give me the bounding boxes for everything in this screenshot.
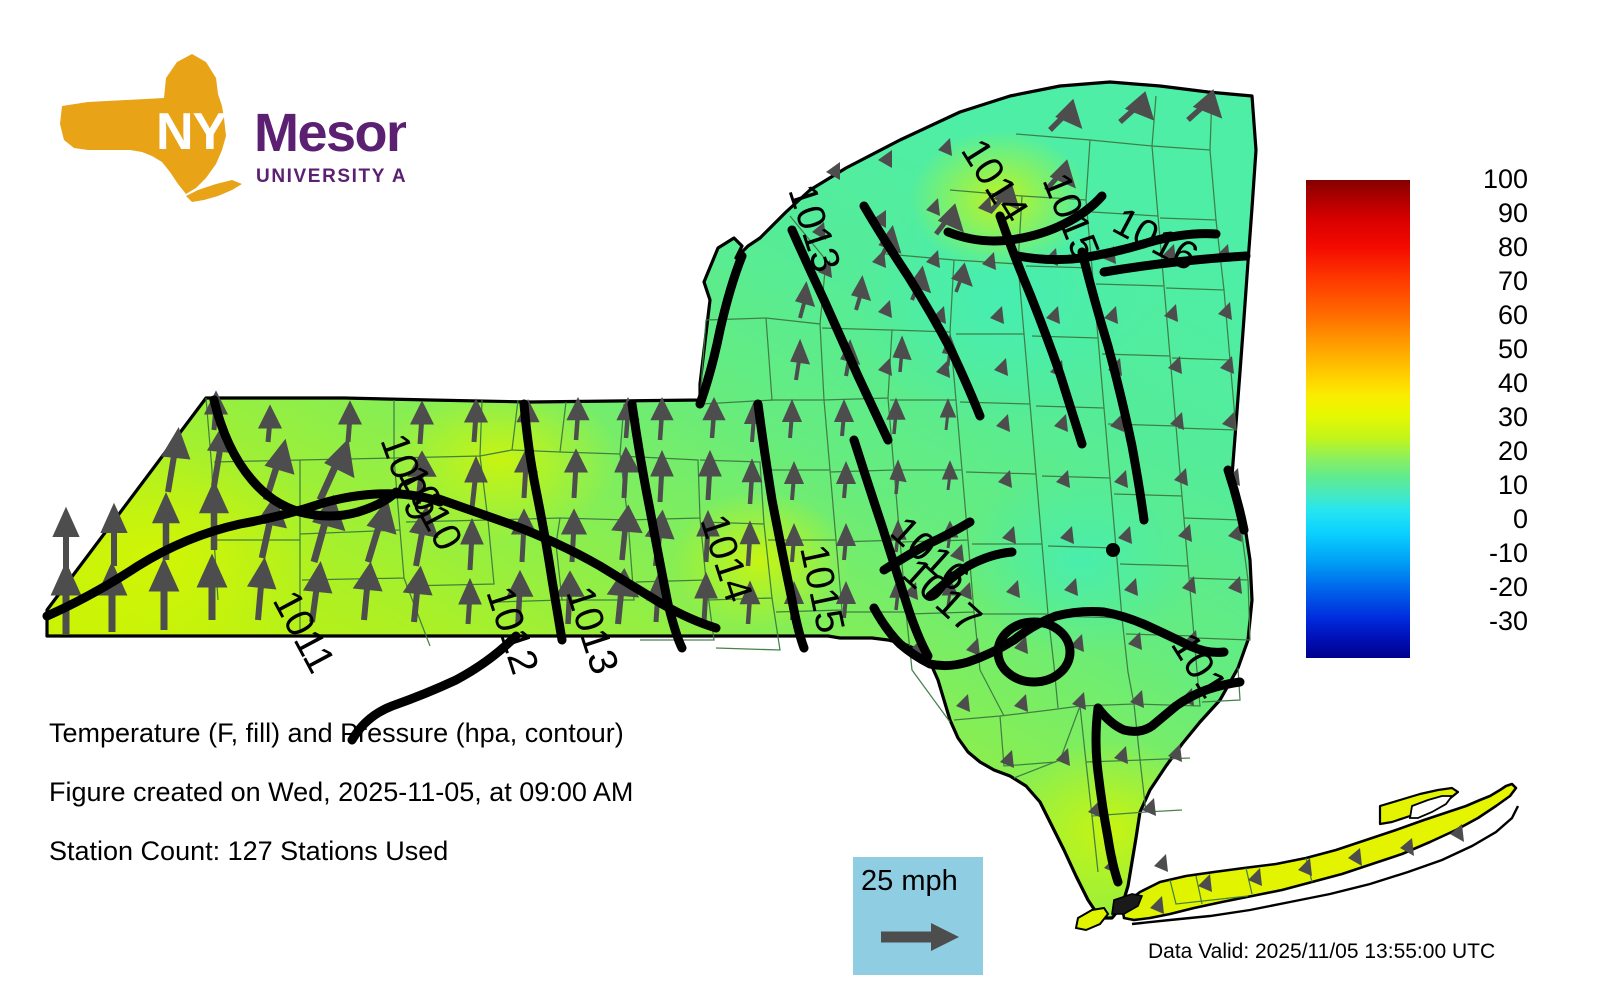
colorbar-tick-40: 40 bbox=[1418, 370, 1528, 397]
station-dot bbox=[1106, 543, 1120, 557]
colorbar-tick-70: 70 bbox=[1418, 268, 1528, 295]
colorbar-tick-neg20: -20 bbox=[1418, 574, 1528, 601]
colorbar-tick-60: 60 bbox=[1418, 302, 1528, 329]
caption-created: Figure created on Wed, 2025-11-05, at 09… bbox=[49, 777, 849, 808]
colorbar-tick-100: 100 bbox=[1418, 166, 1528, 193]
colorbar-gradient bbox=[1306, 180, 1410, 658]
colorbar-tick-labels: 100 90 80 70 60 50 40 30 20 10 0 -10 -20… bbox=[1418, 172, 1566, 672]
colorbar-tick-neg10: -10 bbox=[1418, 540, 1528, 567]
colorbar-tick-neg30: -30 bbox=[1418, 608, 1528, 635]
temperature-colorbar: 100 90 80 70 60 50 40 30 20 10 0 -10 -20… bbox=[1306, 172, 1566, 672]
caption-station-count: Station Count: 127 Stations Used bbox=[49, 836, 849, 867]
data-valid-timestamp: Data Valid: 2025/11/05 13:55:00 UTC bbox=[1148, 940, 1495, 964]
weather-map-figure: NYS Mesonet UNIVERSITY AT ALBANY bbox=[0, 0, 1600, 1000]
colorbar-tick-30: 30 bbox=[1418, 404, 1528, 431]
colorbar-tick-20: 20 bbox=[1418, 438, 1528, 465]
colorbar-tick-0: 0 bbox=[1418, 506, 1528, 533]
wind-speed-legend: 25 mph bbox=[853, 857, 983, 975]
staten-island bbox=[1076, 908, 1108, 930]
colorbar-tick-80: 80 bbox=[1418, 234, 1528, 261]
wind-legend-label: 25 mph bbox=[861, 865, 958, 898]
wind-arrow-icon bbox=[879, 919, 963, 955]
colorbar-tick-10: 10 bbox=[1418, 472, 1528, 499]
caption-title: Temperature (F, fill) and Pressure (hpa,… bbox=[49, 718, 849, 749]
cool-blob-catskills bbox=[960, 465, 1200, 655]
colorbar-tick-90: 90 bbox=[1418, 200, 1528, 227]
figure-caption-block: Temperature (F, fill) and Pressure (hpa,… bbox=[49, 718, 849, 895]
colorbar-tick-50: 50 bbox=[1418, 336, 1528, 363]
